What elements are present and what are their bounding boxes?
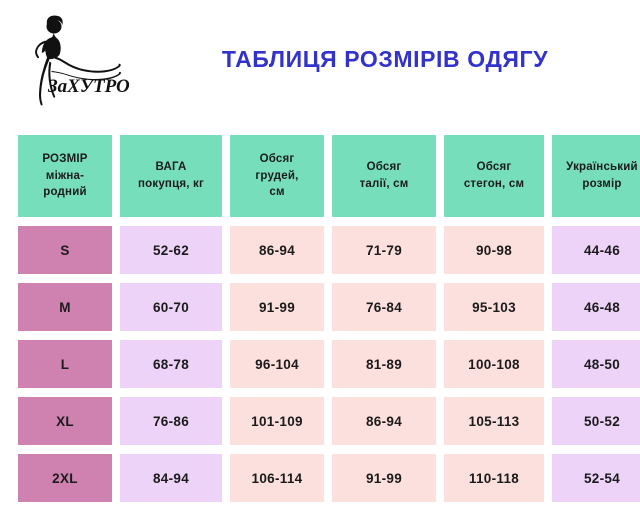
brand-logo: ЗаХУТРОвd — [18, 14, 130, 106]
brand-logo-text: ЗаХУТРОвd — [47, 76, 130, 97]
cell-chest: 91-99 — [230, 283, 324, 331]
cell-waist: 91-99 — [332, 454, 436, 502]
cell-ua-size: 48-50 — [552, 340, 640, 388]
column-header-ua-size-line2: розмір — [552, 176, 640, 193]
column-header-size: РОЗМІР міжна- родний — [18, 135, 112, 217]
column-header-weight-line1: ВАГА — [120, 159, 222, 176]
cell-waist: 81-89 — [332, 340, 436, 388]
column-header-size-line1: РОЗМІР — [18, 151, 112, 168]
cell-weight: 68-78 — [120, 340, 222, 388]
table-row: L 68-78 96-104 81-89 100-108 48-50 — [18, 340, 640, 388]
cell-weight: 52-62 — [120, 226, 222, 274]
size-chart-page: ЗаХУТРОвd ТАБЛИЦЯ РОЗМІРІВ ОДЯГУ РОЗМІР … — [0, 0, 640, 520]
column-header-waist: Обсяг талії, см — [332, 135, 436, 217]
cell-waist: 71-79 — [332, 226, 436, 274]
cell-chest: 106-114 — [230, 454, 324, 502]
table-header-row: РОЗМІР міжна- родний ВАГА покупця, кг Об… — [18, 135, 640, 217]
column-header-waist-line1: Обсяг — [332, 159, 436, 176]
column-header-chest: Обсяг грудей, см — [230, 135, 324, 217]
column-header-waist-line2: талії, см — [332, 176, 436, 193]
page-title: ТАБЛИЦЯ РОЗМІРІВ ОДЯГУ — [150, 0, 620, 118]
cell-hips: 110-118 — [444, 454, 544, 502]
table-row: S 52-62 86-94 71-79 90-98 44-46 — [18, 226, 640, 274]
column-header-chest-line2: грудей, — [230, 168, 324, 185]
cell-weight: 84-94 — [120, 454, 222, 502]
cell-hips: 90-98 — [444, 226, 544, 274]
cell-chest: 96-104 — [230, 340, 324, 388]
table-row: M 60-70 91-99 76-84 95-103 46-48 — [18, 283, 640, 331]
cell-weight: 76-86 — [120, 397, 222, 445]
column-header-size-line3: родний — [18, 184, 112, 201]
column-header-size-line2: міжна- — [18, 168, 112, 185]
table-row: XL 76-86 101-109 86-94 105-113 50-52 — [18, 397, 640, 445]
cell-hips: 95-103 — [444, 283, 544, 331]
cell-size: XL — [18, 397, 112, 445]
cell-hips: 105-113 — [444, 397, 544, 445]
cell-hips: 100-108 — [444, 340, 544, 388]
column-header-weight-line2: покупця, кг — [120, 176, 222, 193]
cell-size: S — [18, 226, 112, 274]
cell-size: 2XL — [18, 454, 112, 502]
cell-ua-size: 46-48 — [552, 283, 640, 331]
cell-ua-size: 52-54 — [552, 454, 640, 502]
table-row: 2XL 84-94 106-114 91-99 110-118 52-54 — [18, 454, 640, 502]
column-header-ua-size: Український розмір — [552, 135, 640, 217]
cell-ua-size: 44-46 — [552, 226, 640, 274]
cell-waist: 86-94 — [332, 397, 436, 445]
cell-chest: 86-94 — [230, 226, 324, 274]
page-header: ЗаХУТРОвd ТАБЛИЦЯ РОЗМІРІВ ОДЯГУ — [0, 0, 640, 118]
cell-waist: 76-84 — [332, 283, 436, 331]
column-header-hips: Обсяг стегон, см — [444, 135, 544, 217]
cell-size: L — [18, 340, 112, 388]
column-header-chest-line3: см — [230, 184, 324, 201]
column-header-hips-line1: Обсяг — [444, 159, 544, 176]
cell-chest: 101-109 — [230, 397, 324, 445]
woman-in-dress-logo-icon: ЗаХУТРОвd — [18, 14, 130, 106]
size-chart-table: РОЗМІР міжна- родний ВАГА покупця, кг Об… — [10, 126, 640, 511]
column-header-ua-size-line1: Український — [552, 159, 640, 176]
column-header-weight: ВАГА покупця, кг — [120, 135, 222, 217]
cell-ua-size: 50-52 — [552, 397, 640, 445]
cell-size: M — [18, 283, 112, 331]
column-header-chest-line1: Обсяг — [230, 151, 324, 168]
column-header-hips-line2: стегон, см — [444, 176, 544, 193]
cell-weight: 60-70 — [120, 283, 222, 331]
